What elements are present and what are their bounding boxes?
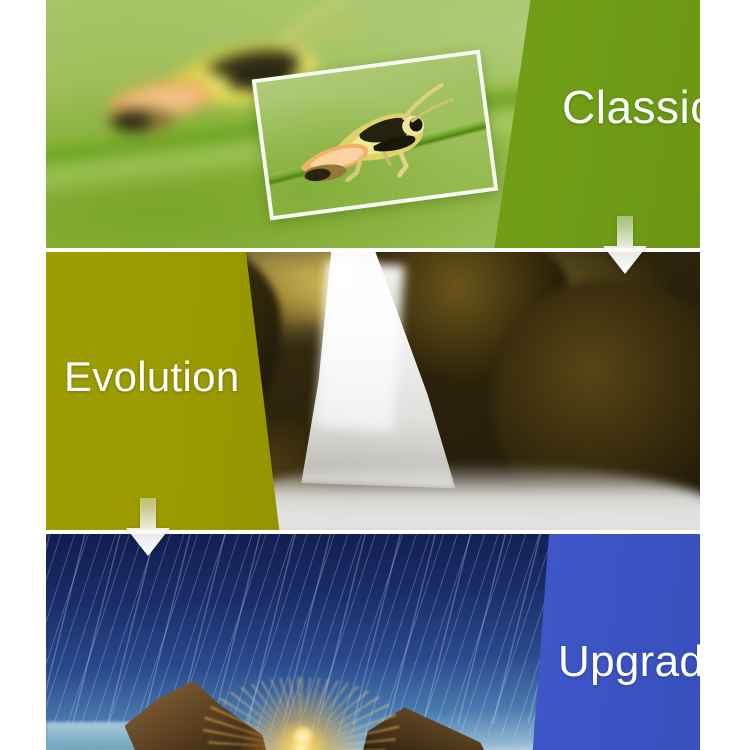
waterfall-upper-stream bbox=[315, 261, 405, 433]
sharp-inset-frame[interactable] bbox=[252, 50, 499, 221]
classic-label: Classic bbox=[562, 84, 700, 130]
panel-upgrade[interactable]: Upgrade bbox=[46, 534, 700, 750]
upgrade-label: Upgrade bbox=[558, 640, 700, 684]
panel-classic[interactable]: Classic bbox=[46, 0, 700, 248]
steel-wool-core bbox=[292, 726, 314, 748]
panel-evolution[interactable]: Evolution bbox=[46, 252, 700, 530]
evolution-wedge[interactable]: Evolution bbox=[46, 252, 284, 530]
banner-stage: Classic Evolution Upgrade bbox=[0, 0, 750, 750]
evolution-label: Evolution bbox=[64, 356, 239, 398]
